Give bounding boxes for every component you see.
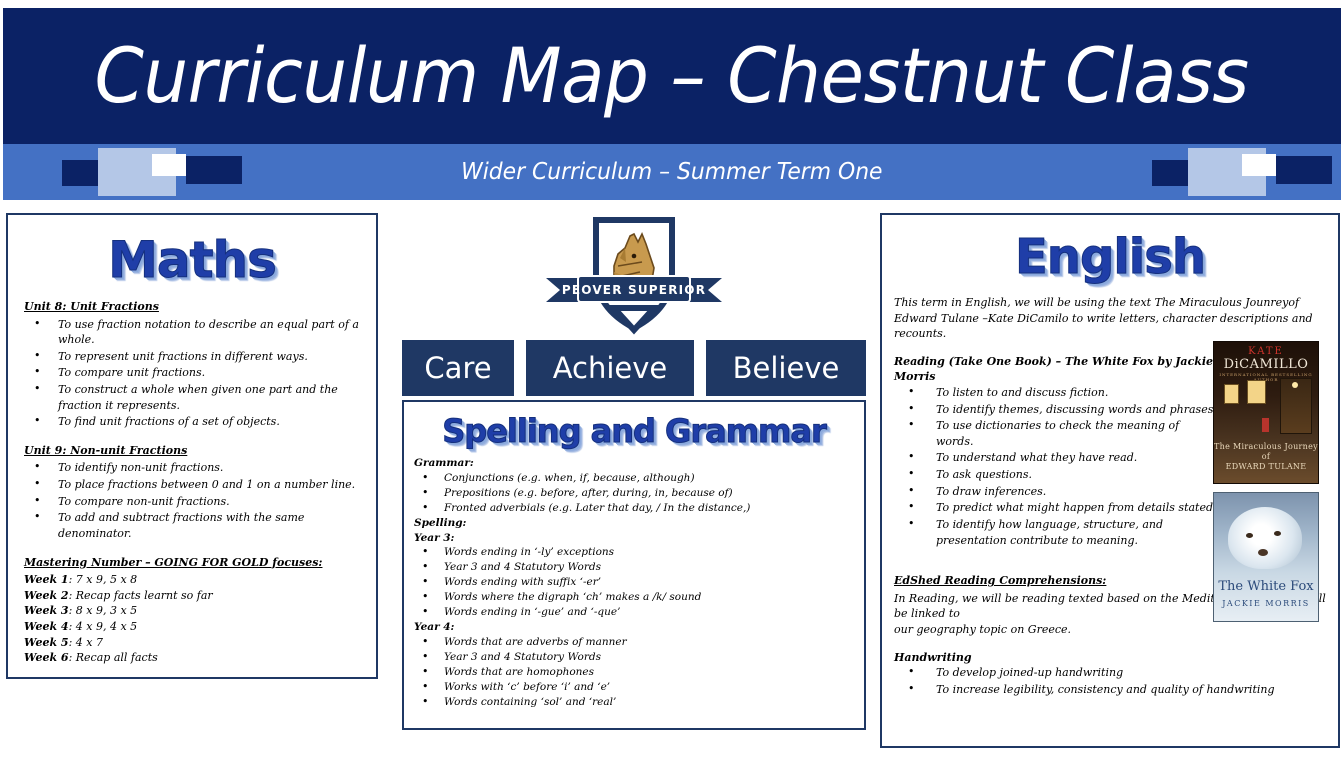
crest-icon: PEOVER SUPERIOR	[528, 216, 740, 336]
maths-unit8-heading: Unit 8: Unit Fractions	[24, 299, 362, 315]
english-intro: This term in English, we will be using t…	[894, 295, 1326, 342]
list-item: To represent unit fractions in different…	[24, 349, 362, 365]
maths-panel: Maths Unit 8: Unit Fractions To use frac…	[6, 213, 378, 679]
maths-unit9-list: To identify non-unit fractions. To place…	[24, 460, 362, 541]
maths-mastering-heading: Mastering Number – GOING FOR GOLD focuse…	[24, 555, 362, 571]
page-title: Curriculum Map – Chestnut Class	[95, 38, 1249, 114]
handwriting-heading: Handwriting	[894, 650, 1326, 666]
english-intro-line-1: This term in English, we will be using t…	[894, 296, 1299, 309]
value-box-achieve: Achieve	[526, 340, 694, 396]
list-item: To identify themes, discussing words and…	[894, 402, 1220, 418]
decorative-blocks-left	[62, 144, 242, 200]
maths-heading: Maths	[8, 231, 376, 289]
week-value: 8 x 9, 3 x 5	[76, 604, 137, 617]
list-item: Words where the digraph ‘ch’ makes a /k/…	[414, 590, 852, 605]
week-label: Week 4	[24, 620, 69, 633]
book-author-first: KATE	[1214, 346, 1318, 357]
english-reading-block: Reading (Take One Book) – The White Fox …	[894, 354, 1220, 548]
book-art-window-2	[1247, 380, 1266, 404]
week-label: Week 6	[24, 651, 69, 664]
crest-banner-text: PEOVER SUPERIOR	[562, 283, 706, 297]
list-item: To compare non-unit fractions.	[24, 494, 362, 510]
book-title: The Miraculous Journey of EDWARD TULANE	[1214, 442, 1318, 472]
book-art-fox-head	[1228, 507, 1302, 569]
list-item: Fronted adverbials (e.g. Later that day,…	[414, 501, 852, 516]
book-cover-the-white-fox: The White Fox JACKIE MORRIS	[1213, 492, 1319, 622]
week-row: Week 1: 7 x 9, 5 x 8	[24, 572, 362, 588]
list-item: To add and subtract fractions with the s…	[24, 510, 362, 541]
english-handwriting-block: Handwriting To develop joined-up handwri…	[894, 650, 1326, 698]
list-item: Words ending in ‘-gue’ and ‘-que’	[414, 605, 852, 620]
year3-list: Words ending in ‘-ly’ exceptions Year 3 …	[414, 545, 852, 620]
english-intro-line-2: Edward Tulane –Kate DiCamilo to write le…	[894, 312, 1313, 341]
week-row: Week 4: 4 x 9, 4 x 5	[24, 619, 362, 635]
grammar-label: Grammar:	[414, 456, 852, 471]
list-item: To identify non-unit fractions.	[24, 460, 362, 476]
week-value: 4 x 7	[76, 636, 103, 649]
year3-label: Year 3:	[414, 531, 852, 546]
spelling-grammar-heading: Spelling and Grammar	[404, 412, 864, 450]
list-item: Words ending with suffix ‘-er’	[414, 575, 852, 590]
book-art-lamp	[1292, 382, 1298, 388]
spacer	[24, 543, 362, 555]
list-item: Conjunctions (e.g. when, if, because, al…	[414, 471, 852, 486]
week-row: Week 3: 8 x 9, 3 x 5	[24, 603, 362, 619]
list-item: To use dictionaries to check the meaning…	[894, 418, 1220, 449]
list-item: To use fraction notation to describe an …	[24, 317, 362, 348]
list-item: To place fractions between 0 and 1 on a …	[24, 477, 362, 493]
maths-mastering-weeks: Week 1: 7 x 9, 5 x 8 Week 2: Recap facts…	[24, 572, 362, 666]
book-title-line-1: The Miraculous Journey of	[1214, 442, 1318, 461]
week-label: Week 2	[24, 589, 69, 602]
week-label: Week 3	[24, 604, 69, 617]
spelling-grammar-panel: Spelling and Grammar Grammar: Conjunctio…	[402, 400, 866, 730]
book-art-fox-eye-right	[1274, 531, 1281, 536]
list-item: To find unit fractions of a set of objec…	[24, 414, 362, 430]
book-author: JACKIE MORRIS	[1214, 599, 1318, 608]
week-value: Recap facts learnt so far	[76, 589, 213, 602]
list-item: To listen to and discuss fiction.	[894, 385, 1220, 401]
book-title-line-2: EDWARD TULANE	[1226, 462, 1307, 471]
year4-label: Year 4:	[414, 620, 852, 635]
week-row: Week 6: Recap all facts	[24, 650, 362, 666]
list-item: Words containing ‘sol’ and ‘real’	[414, 695, 852, 710]
book-art-fox-nose	[1258, 549, 1268, 556]
book-art-rabbit	[1262, 418, 1269, 432]
school-values-row: Care Achieve Believe	[402, 340, 866, 396]
spacer	[894, 638, 1326, 650]
edshed-line-2: our geography topic on Greece.	[894, 623, 1071, 636]
list-item: To predict what might happen from detail…	[894, 500, 1220, 516]
value-box-believe: Believe	[706, 340, 866, 396]
value-box-care: Care	[402, 340, 514, 396]
curriculum-map-page: Curriculum Map – Chestnut Class Wider Cu…	[0, 0, 1344, 757]
spelling-grammar-content: Grammar: Conjunctions (e.g. when, if, be…	[404, 456, 864, 709]
list-item: To ask questions.	[894, 467, 1220, 483]
maths-unit8-list: To use fraction notation to describe an …	[24, 317, 362, 430]
page-subtitle: Wider Curriculum – Summer Term One	[461, 159, 882, 185]
book-title: The White Fox	[1214, 579, 1318, 594]
week-value: 4 x 9, 4 x 5	[76, 620, 137, 633]
list-item: Year 3 and 4 Statutory Words	[414, 560, 852, 575]
week-row: Week 2: Recap facts learnt so far	[24, 588, 362, 604]
list-item: Words that are homophones	[414, 665, 852, 680]
reading-heading: Reading (Take One Book) – The White Fox …	[894, 354, 1220, 385]
week-label: Week 5	[24, 636, 69, 649]
year4-list: Words that are adverbs of manner Year 3 …	[414, 635, 852, 710]
maths-content: Unit 8: Unit Fractions To use fraction n…	[8, 299, 376, 666]
list-item: To identify how language, structure, and…	[894, 517, 1220, 548]
spacer	[24, 431, 362, 443]
school-crest: PEOVER SUPERIOR	[528, 216, 740, 336]
handwriting-list: To develop joined-up handwriting To incr…	[894, 665, 1326, 697]
list-item: Prepositions (e.g. before, after, during…	[414, 486, 852, 501]
spelling-label: Spelling:	[414, 516, 852, 531]
week-value: 7 x 9, 5 x 8	[76, 573, 137, 586]
week-row: Week 5: 4 x 7	[24, 635, 362, 651]
book-cover-edward-tulane: KATE DiCAMILLO INTERNATIONAL BESTSELLING…	[1213, 341, 1319, 484]
list-item: To compare unit fractions.	[24, 365, 362, 381]
reading-list: To listen to and discuss fiction. To ide…	[894, 385, 1220, 548]
list-item: To construct a whole when given one part…	[24, 382, 362, 413]
list-item: To develop joined-up handwriting	[894, 665, 1326, 681]
deco-block-white-right	[1242, 154, 1276, 176]
list-item: Words that are adverbs of manner	[414, 635, 852, 650]
deco-block-dark-left-2	[186, 156, 242, 184]
list-item: Year 3 and 4 Statutory Words	[414, 650, 852, 665]
week-value: Recap all facts	[76, 651, 158, 664]
list-item: To increase legibility, consistency and …	[894, 682, 1326, 698]
list-item: Words ending in ‘-ly’ exceptions	[414, 545, 852, 560]
grammar-list: Conjunctions (e.g. when, if, because, al…	[414, 471, 852, 516]
book-author-last: DiCAMILLO	[1214, 357, 1318, 372]
week-label: Week 1	[24, 573, 69, 586]
maths-unit9-heading: Unit 9: Non-unit Fractions	[24, 443, 362, 459]
book-art-window-1	[1224, 384, 1239, 404]
title-banner: Curriculum Map – Chestnut Class	[3, 8, 1341, 144]
decorative-blocks-right	[1152, 144, 1332, 200]
list-item: Works with ‘c’ before ‘i’ and ‘e’	[414, 680, 852, 695]
list-item: To understand what they have read.	[894, 450, 1220, 466]
book-art-fox-eye-left	[1246, 533, 1253, 538]
list-item: To draw inferences.	[894, 484, 1220, 500]
english-heading: English	[882, 229, 1338, 285]
deco-block-dark-right-2	[1276, 156, 1332, 184]
deco-block-white-left	[152, 154, 186, 176]
